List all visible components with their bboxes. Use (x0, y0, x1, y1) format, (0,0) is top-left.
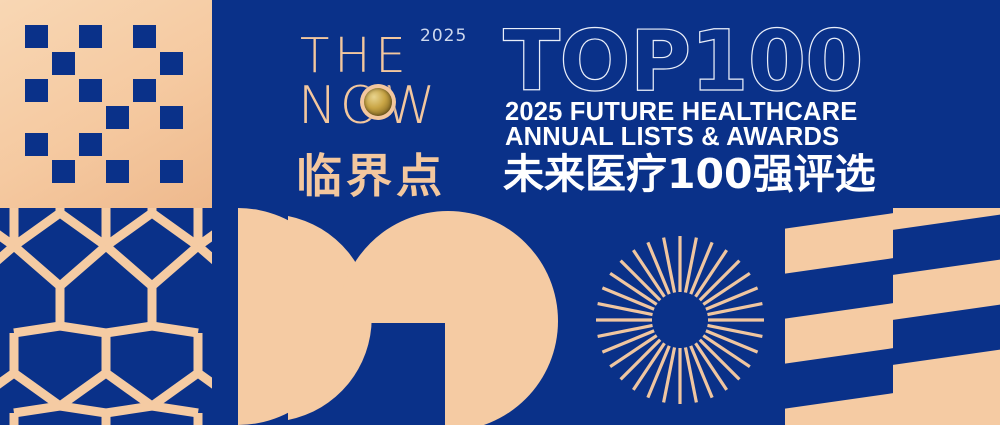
hexagon-lattice-svg (0, 208, 212, 425)
english-title-line1: 2025 FUTURE HEALTHCARE (505, 100, 857, 125)
checker-cell (106, 160, 129, 183)
checkerboard-pattern (0, 0, 212, 208)
banner-root: THE 2025 NOW 临界点 TOP100 2025 FUTURE HEAL… (0, 0, 1000, 425)
gold-sphere-icon (360, 84, 396, 120)
diagonal-stripes-decoration (785, 208, 1000, 425)
checker-cell (25, 79, 48, 102)
checker-cell (79, 79, 102, 102)
checker-cell (52, 52, 75, 75)
logo-year-superscript: 2025 (420, 26, 467, 46)
checker-cell (160, 106, 183, 129)
checker-cell (133, 25, 156, 48)
checker-cell (160, 52, 183, 75)
notched-circle-shape (338, 211, 558, 425)
title-block: TOP100 2025 FUTURE HEALTHCARE ANNUAL LIS… (503, 20, 848, 195)
circles-decoration (200, 208, 570, 425)
checker-cell (106, 106, 129, 129)
checker-cell (79, 25, 102, 48)
stripes-svg (785, 208, 1000, 425)
sunburst-svg (580, 208, 785, 425)
checker-cell (79, 133, 102, 156)
circles-svg (200, 208, 570, 425)
checker-cell (133, 79, 156, 102)
english-title-line2: ANNUAL LISTS & AWARDS (505, 125, 839, 150)
checker-cell (160, 160, 183, 183)
checker-cell (52, 160, 75, 183)
stripes-right-group (885, 208, 1000, 425)
checker-cell (25, 25, 48, 48)
checker-cell (25, 133, 48, 156)
chinese-title: 未来医疗100强评选 (503, 154, 876, 195)
logo-chinese-text: 临界点 (296, 140, 446, 206)
top100-outline-title: TOP100 (503, 24, 863, 100)
sunburst-decoration (580, 208, 785, 425)
hexagon-lattice-pattern (0, 208, 212, 425)
